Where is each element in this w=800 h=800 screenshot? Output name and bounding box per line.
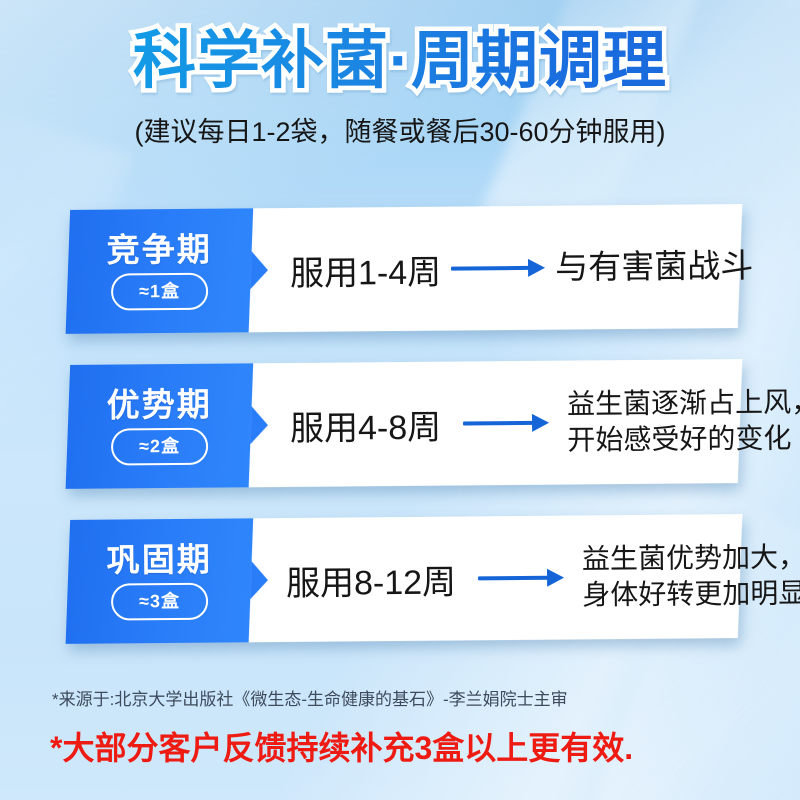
phase-label: 竞争期 — [107, 232, 212, 266]
phase-duration: 服用8-12周 — [286, 554, 457, 604]
phase-card-content: 优势期 ≈2盒 服用4-8周 益生菌逐渐占上风， 开始感受好的变化 — [66, 359, 743, 489]
phase-tag: 优势期 ≈2盒 — [67, 363, 251, 489]
page-subtitle: (建议每日1-2袋，随餐或餐后30-60分钟服用) — [0, 110, 800, 149]
phase-outcome-line1: 益生菌逐渐占上风， — [567, 385, 800, 423]
right-arrow-icon — [463, 415, 549, 432]
phase-label: 巩固期 — [107, 542, 212, 576]
phase-badge: ≈3盒 — [111, 582, 208, 620]
phase-body: 服用8-12周 益生菌优势加大， 身体好转更加明显 — [267, 514, 740, 642]
header: 科学补菌·周期调理 (建议每日1-2袋，随餐或餐后30-60分钟服用) — [0, 28, 800, 149]
right-arrow-icon — [451, 260, 545, 277]
phase-tag: 竞争期 ≈1盒 — [67, 208, 251, 334]
phase-card-content: 巩固期 ≈3盒 服用8-12周 益生菌优势加大， 身体好转更加明显 — [66, 514, 743, 644]
right-arrow-icon — [478, 570, 564, 587]
phase-outcome-line2: 身体好转更加明显 — [582, 575, 800, 613]
phase-outcome-line1: 益生菌优势加大， — [582, 540, 800, 578]
phase-body: 服用1-4周 与有害菌战斗 — [267, 204, 740, 332]
promo-poster: 科学补菌·周期调理 科学补菌·周期调理 (建议每日1-2袋，随餐或餐后30-60… — [0, 0, 800, 800]
page-title: 科学补菌·周期调理 — [0, 28, 800, 94]
phase-outcome: 益生菌逐渐占上风， 开始感受好的变化 — [567, 385, 800, 459]
phase-duration: 服用4-8周 — [290, 399, 442, 449]
phase-row: 竞争期 ≈1盒 服用1-4周 与有害菌战斗 — [0, 207, 800, 335]
phase-badge: ≈2盒 — [111, 427, 208, 465]
phase-body: 服用4-8周 益生菌逐渐占上风， 开始感受好的变化 — [267, 359, 740, 487]
phase-tag: 巩固期 ≈3盒 — [67, 518, 251, 644]
phase-row: 优势期 ≈2盒 服用4-8周 益生菌逐渐占上风， 开始感受好的变化 — [0, 362, 800, 490]
phase-outcome: 益生菌优势加大， 身体好转更加明显 — [582, 540, 800, 614]
source-footnote: *来源于:北京大学出版社《微生态-生命健康的基石》-李兰娟院士主审 — [52, 685, 568, 710]
phase-list: 竞争期 ≈1盒 服用1-4周 与有害菌战斗 — [0, 207, 800, 672]
highlight-note: *大部分客户反馈持续补充3盒以上更有效. — [50, 723, 633, 769]
phase-outcome-line1: 与有害菌战斗 — [555, 247, 753, 286]
phase-badge: ≈1盒 — [111, 272, 208, 310]
phase-duration: 服用1-4周 — [290, 244, 442, 294]
phase-card-content: 竞争期 ≈1盒 服用1-4周 与有害菌战斗 — [66, 204, 743, 334]
phase-label: 优势期 — [107, 387, 212, 421]
phase-row: 巩固期 ≈3盒 服用8-12周 益生菌优势加大， 身体好转更加明显 — [0, 517, 800, 645]
phase-outcome: 与有害菌战斗 — [555, 245, 753, 289]
phase-outcome-line2: 开始感受好的变化 — [567, 420, 800, 458]
